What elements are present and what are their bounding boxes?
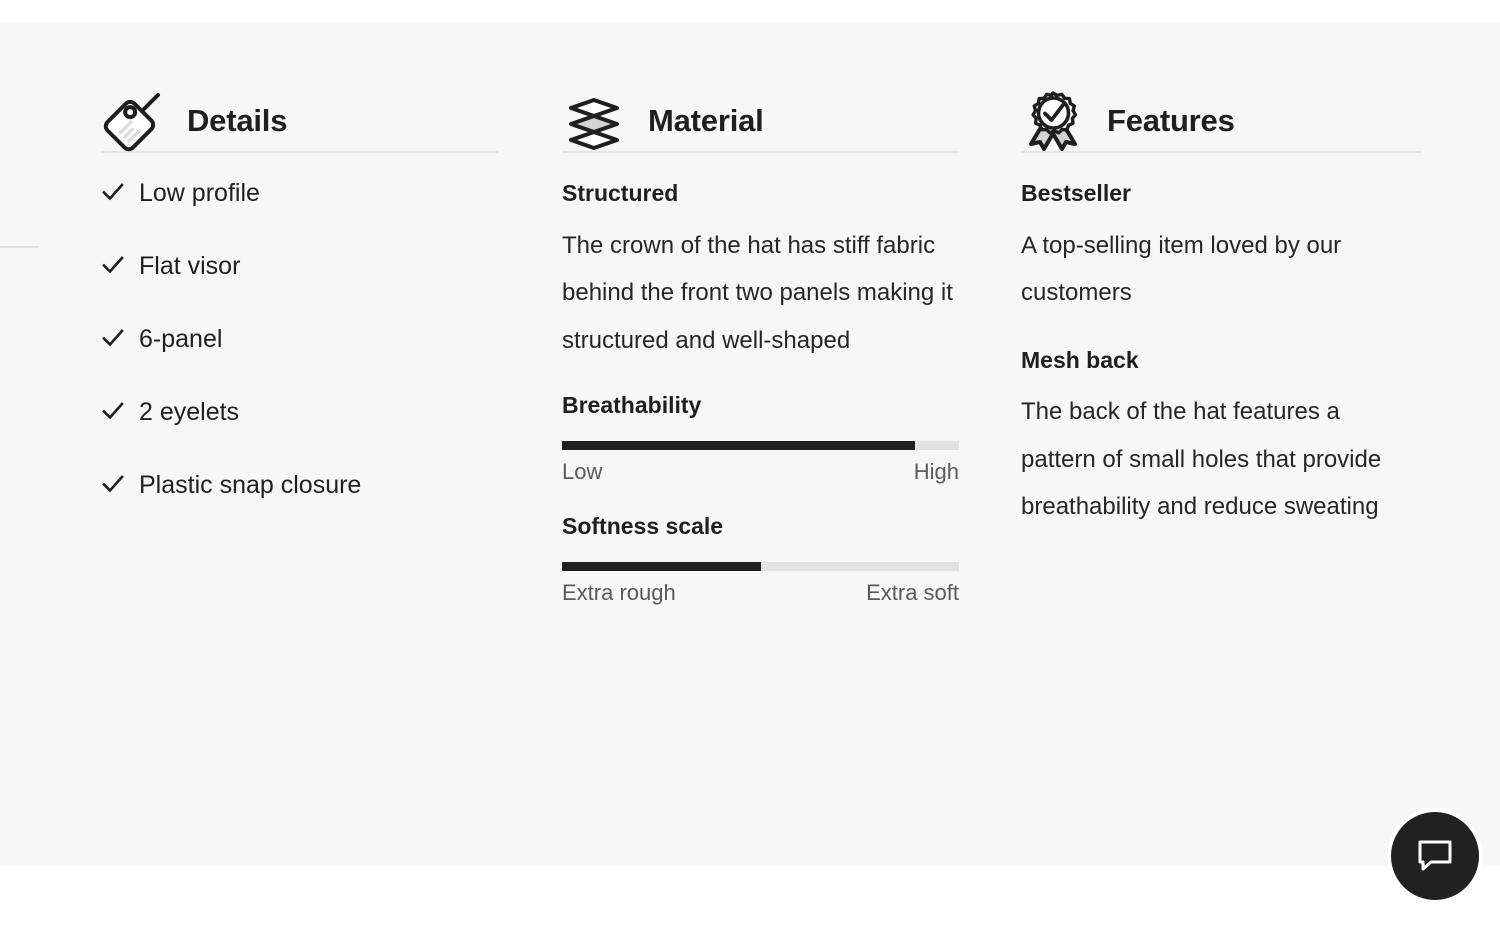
scale-title: Softness scale: [562, 513, 959, 540]
details-title: Details: [187, 105, 287, 136]
list-item: Low profile: [101, 177, 498, 206]
chat-bubble-icon: [1415, 836, 1455, 876]
breathability-scale: Breathability Low High: [562, 392, 959, 485]
block-title: Structured: [562, 180, 959, 208]
scale-title: Breathability: [562, 392, 959, 419]
product-info-page: Details Low profile Flat visor: [0, 0, 1500, 926]
layers-icon: [562, 88, 626, 152]
check-icon: [101, 472, 125, 496]
block-body: The crown of the hat has stiff fabric be…: [562, 222, 959, 365]
scale-low-label: Low: [562, 459, 602, 485]
softness-scale: Softness scale Extra rough Extra soft: [562, 513, 959, 606]
scale-fill: [562, 441, 915, 450]
list-item-label: Plastic snap closure: [139, 473, 361, 498]
details-header: Details: [101, 22, 498, 142]
features-block-bestseller: Bestseller A top-selling item loved by o…: [1021, 180, 1421, 317]
block-title: Bestseller: [1021, 180, 1421, 208]
details-column: Details Low profile Flat visor: [101, 22, 498, 542]
info-columns: Details Low profile Flat visor: [0, 22, 1500, 866]
check-icon: [101, 253, 125, 277]
features-header: Features: [1021, 22, 1421, 142]
material-title: Material: [648, 105, 764, 136]
scale-track: [562, 562, 959, 571]
features-block-mesh-back: Mesh back The back of the hat features a…: [1021, 347, 1421, 531]
list-item-label: Low profile: [139, 181, 260, 206]
material-column: Material Structured The crown of the hat…: [562, 22, 959, 606]
features-column: Features Bestseller A top-selling item l…: [1021, 22, 1421, 531]
check-icon: [101, 399, 125, 423]
scale-low-label: Extra rough: [562, 580, 676, 606]
details-list: Low profile Flat visor 6-panel: [101, 177, 498, 498]
block-title: Mesh back: [1021, 347, 1421, 375]
scale-labels: Low High: [562, 459, 959, 485]
check-icon: [101, 180, 125, 204]
list-item-label: 2 eyelets: [139, 400, 239, 425]
block-body: The back of the hat features a pattern o…: [1021, 388, 1421, 531]
scale-high-label: Extra soft: [866, 580, 959, 606]
list-item: 6-panel: [101, 323, 498, 352]
list-item-label: Flat visor: [139, 254, 240, 279]
scale-labels: Extra rough Extra soft: [562, 580, 959, 606]
award-ribbon-icon: [1021, 88, 1085, 152]
list-item: Flat visor: [101, 250, 498, 279]
scale-track: [562, 441, 959, 450]
list-item-label: 6-panel: [139, 327, 222, 352]
price-tag-icon: [101, 88, 165, 152]
block-body: A top-selling item loved by our customer…: [1021, 222, 1421, 317]
list-item: Plastic snap closure: [101, 469, 498, 498]
check-icon: [101, 326, 125, 350]
features-title: Features: [1107, 105, 1235, 136]
list-item: 2 eyelets: [101, 396, 498, 425]
material-header: Material: [562, 22, 959, 142]
chat-launcher-button[interactable]: [1391, 812, 1479, 900]
material-block-structured: Structured The crown of the hat has stif…: [562, 180, 959, 364]
scale-fill: [562, 562, 761, 571]
scale-high-label: High: [914, 459, 959, 485]
